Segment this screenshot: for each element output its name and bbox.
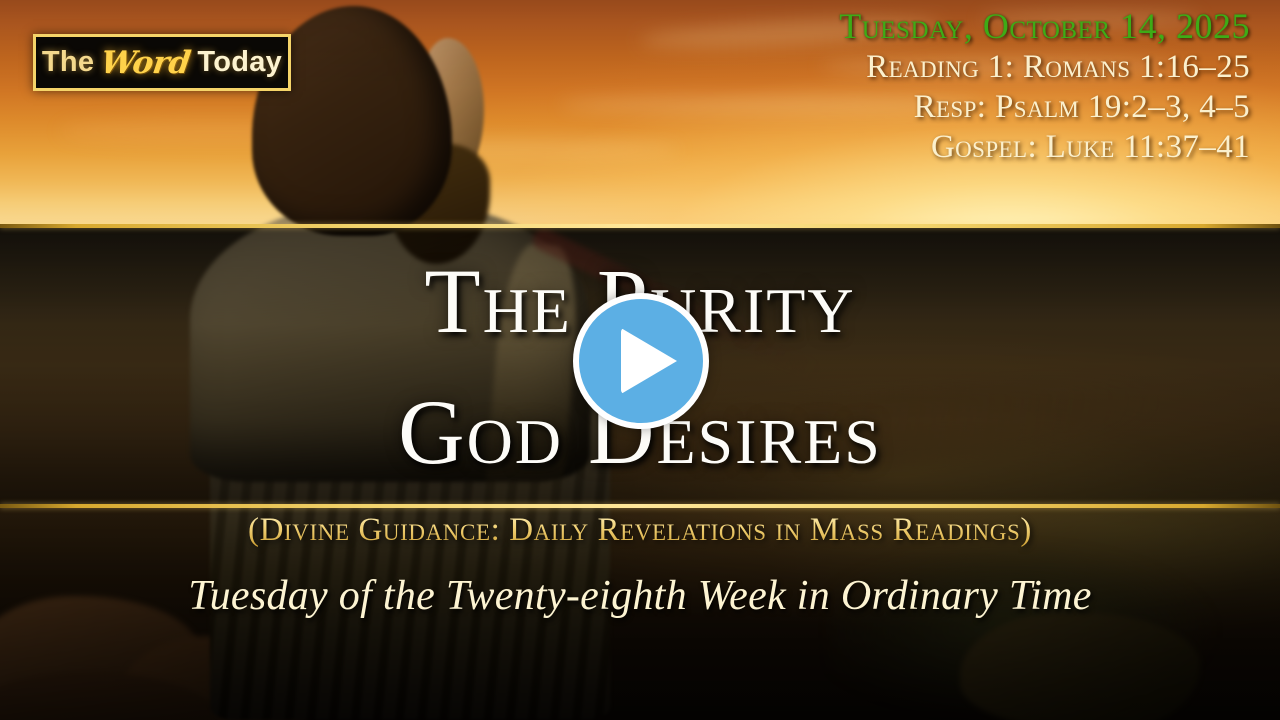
logo-word-the: The — [42, 46, 94, 79]
video-thumbnail: The Word Today Tuesday, October 14, 2025… — [0, 0, 1280, 720]
gold-divider-bottom — [0, 504, 1280, 508]
liturgical-day: Tuesday of the Twenty-eighth Week in Ord… — [0, 572, 1280, 620]
play-triangle-icon — [621, 328, 677, 394]
series-subtitle: (Divine Guidance: Daily Revelations in M… — [0, 512, 1280, 549]
reading-first: Reading 1: Romans 1:16–25 — [839, 51, 1250, 84]
reading-gospel: Gospel: Luke 11:37–41 — [839, 131, 1250, 164]
logo-word-today: Today — [197, 46, 282, 79]
reading-date: Tuesday, October 14, 2025 — [839, 8, 1250, 44]
reading-responsorial: Resp: Psalm 19:2–3, 4–5 — [839, 91, 1250, 124]
readings-block: Tuesday, October 14, 2025 Reading 1: Rom… — [839, 8, 1250, 164]
logo-word-word: Word — [99, 45, 193, 81]
channel-logo-badge[interactable]: The Word Today — [33, 34, 291, 91]
gold-divider-top — [0, 224, 1280, 228]
play-button[interactable] — [573, 293, 709, 429]
